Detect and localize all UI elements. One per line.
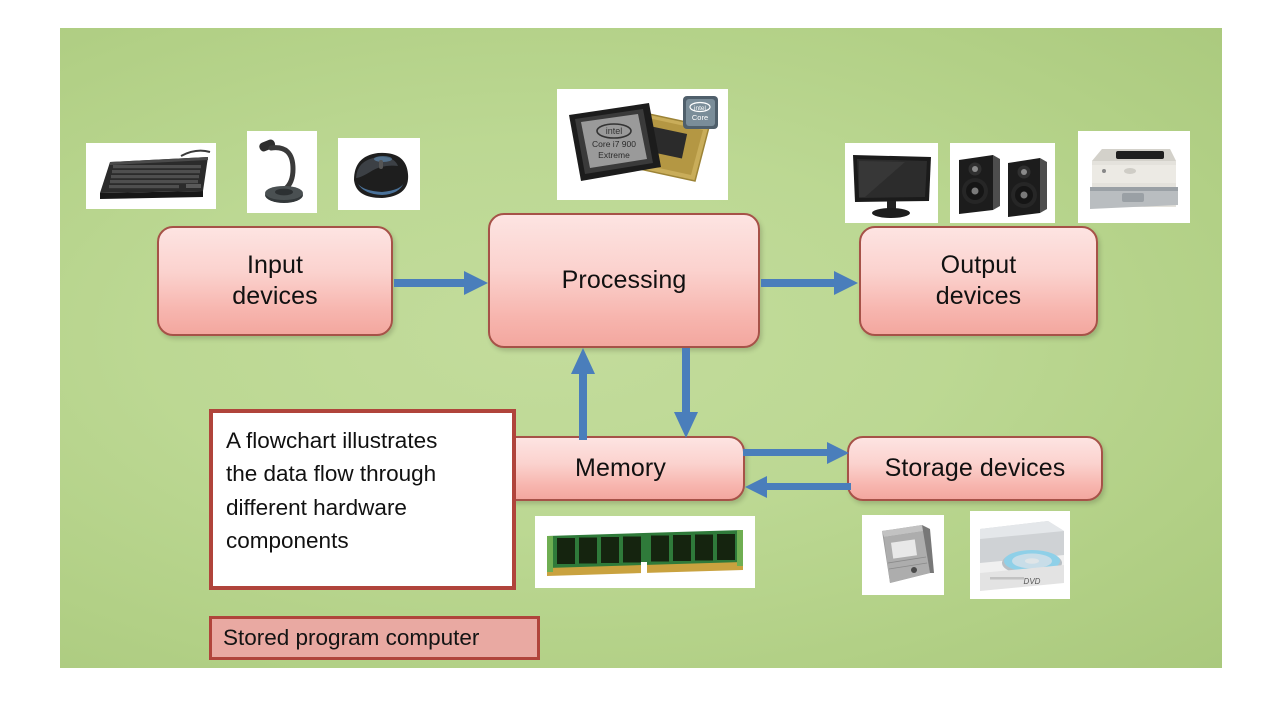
keyboard-photo: [86, 143, 216, 209]
svg-text:intel: intel: [694, 105, 706, 112]
memory-box[interactable]: Memory: [496, 436, 745, 501]
arrow-memory-to-storage: [743, 440, 851, 466]
note-line-3: different hardware: [226, 491, 499, 524]
storage-devices-label: Storage devices: [885, 453, 1066, 484]
cpu-photo: intel Core i7 900 Extreme intel Core: [557, 89, 728, 200]
output-devices-line2: devices: [936, 281, 1021, 312]
flowchart-note-box: A flowchart illustrates the data flow th…: [209, 409, 516, 590]
note-line-2: the data flow through: [226, 457, 499, 490]
stored-program-computer-label: Stored program computer: [223, 625, 479, 651]
mouse-photo: [338, 138, 420, 210]
output-devices-line1: Output: [936, 250, 1021, 281]
input-devices-line1: Input: [232, 250, 317, 281]
stored-program-computer-box: Stored program computer: [209, 616, 540, 660]
svg-text:Core i7 900: Core i7 900: [592, 139, 636, 149]
input-devices-box[interactable]: Input devices: [157, 226, 393, 336]
svg-text:DVD: DVD: [1024, 577, 1041, 586]
input-devices-line2: devices: [232, 281, 317, 312]
processing-box[interactable]: Processing: [488, 213, 760, 348]
arrow-processing-to-output: [761, 268, 860, 298]
processing-label: Processing: [562, 265, 687, 296]
slide-canvas: intel Core i7 900 Extreme intel Core: [60, 28, 1222, 668]
svg-text:intel: intel: [606, 126, 623, 136]
storage-devices-box[interactable]: Storage devices: [847, 436, 1103, 501]
arrow-processing-to-memory: [671, 348, 701, 440]
note-line-4: components: [226, 524, 499, 557]
monitor-photo: [845, 143, 938, 223]
note-line-1: A flowchart illustrates: [226, 424, 499, 457]
arrow-memory-to-processing: [568, 346, 598, 440]
arrow-storage-to-memory: [743, 474, 851, 500]
printer-photo: [1078, 131, 1190, 223]
output-devices-box[interactable]: Output devices: [859, 226, 1098, 336]
microphone-photo: [247, 131, 317, 213]
svg-text:Extreme: Extreme: [598, 150, 630, 160]
svg-text:Core: Core: [692, 113, 708, 122]
speakers-photo: [950, 143, 1055, 223]
memory-label: Memory: [575, 453, 666, 484]
ram-module-photo: [535, 516, 755, 588]
hard-disk-photo: [862, 515, 944, 595]
dvd-drive-photo: DVD: [970, 511, 1070, 599]
arrow-input-to-processing: [394, 268, 490, 298]
